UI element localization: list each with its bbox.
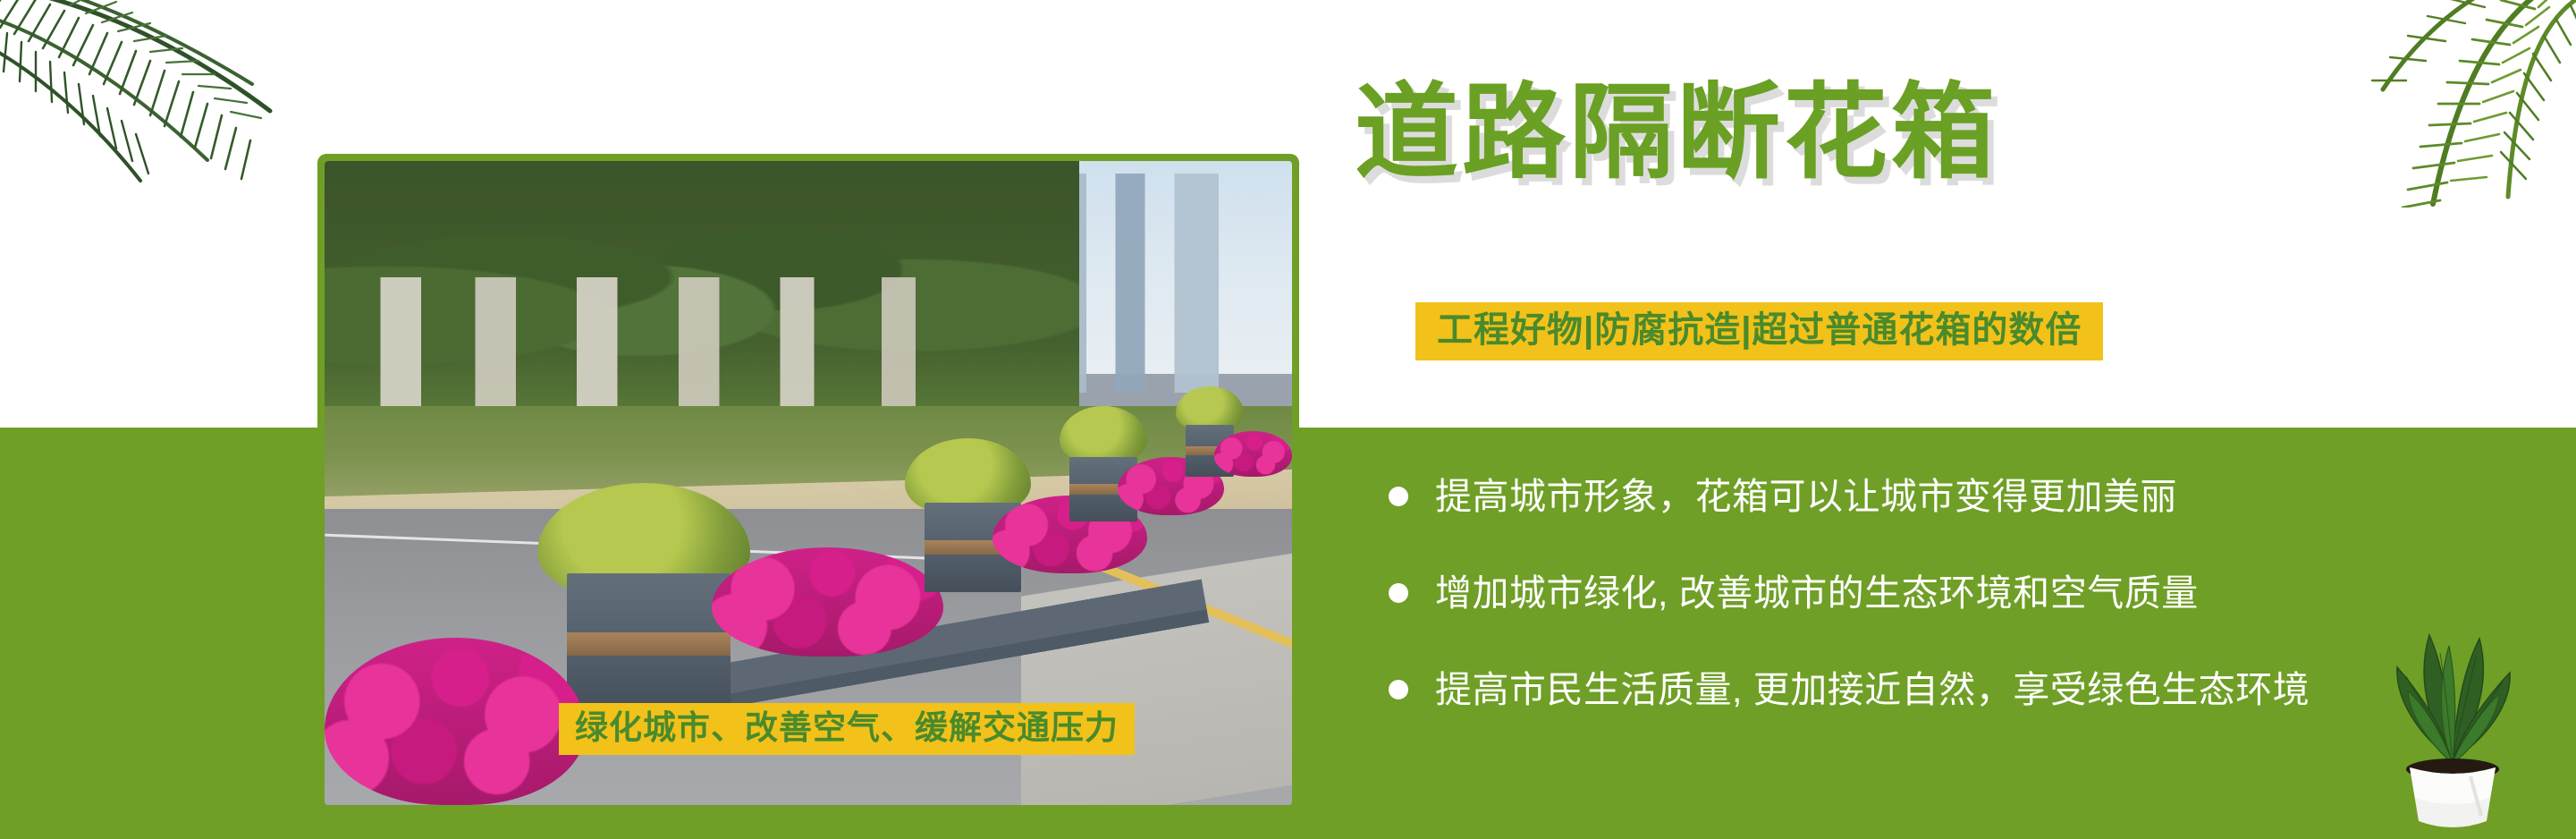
photo-caption-ribbon: 绿化城市、改善空气、缓解交通压力 xyxy=(559,703,1135,755)
list-item-label: 提高市民生活质量, 更加接近自然，享受绿色生态环境 xyxy=(1435,672,2310,708)
page-title: 道路隔断花箱 xyxy=(1355,75,1998,191)
product-photo: 绿化城市、改善空气、缓解交通压力 xyxy=(325,161,1292,805)
subtitle-badge: 工程好物|防腐抗造|超过普通花箱的数倍 xyxy=(1415,302,2103,360)
photo-flowers xyxy=(1214,431,1292,476)
photo-caption-text: 绿化城市、改善空气、缓解交通压力 xyxy=(575,709,1119,746)
list-item-label: 增加城市绿化, 改善城市的生态环境和空气质量 xyxy=(1435,575,2199,612)
promo-banner: 绿化城市、改善空气、缓解交通压力 道路隔断花箱 工程好物|防腐抗造|超过普通花箱… xyxy=(0,0,2576,839)
bullet-dot-icon xyxy=(1389,680,1408,699)
palm-leaf-icon xyxy=(0,0,279,182)
bullet-dot-icon xyxy=(1389,583,1408,603)
list-item: 提高城市形象，花箱可以让城市变得更加美丽 xyxy=(1389,465,2576,528)
product-photo-card: 绿化城市、改善空气、缓解交通压力 xyxy=(317,154,1299,812)
subtitle-text: 工程好物|防腐抗造|超过普通花箱的数倍 xyxy=(1437,310,2082,350)
photo-planter-box xyxy=(567,573,731,715)
bullet-dot-icon xyxy=(1389,487,1408,506)
potted-plant-icon xyxy=(2363,590,2542,832)
list-item-label: 提高城市形象，花箱可以让城市变得更加美丽 xyxy=(1435,479,2177,515)
